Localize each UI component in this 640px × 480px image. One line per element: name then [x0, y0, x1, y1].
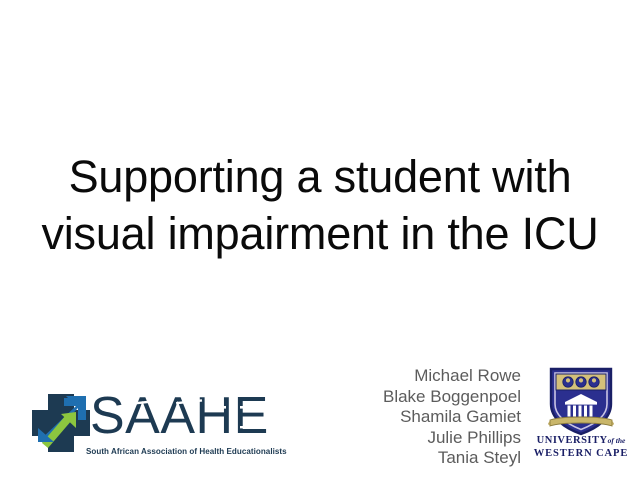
- author-name: Tania Steyl: [300, 448, 521, 469]
- uwc-ofthe-text: of the: [608, 436, 626, 445]
- saahe-wordmark: SAAHE: [90, 388, 280, 444]
- uwc-line-2: WESTERN CAPE: [529, 447, 633, 460]
- author-name: Shamila Gamiet: [300, 407, 521, 428]
- saahe-logo: SAAHE South African Association of Healt…: [28, 388, 278, 468]
- svg-text:SAAHE: SAAHE: [90, 388, 269, 444]
- author-name: Michael Rowe: [300, 366, 521, 387]
- saahe-tagline: South African Association of Health Educ…: [86, 446, 274, 456]
- title-line-2: visual impairment in the ICU: [20, 205, 620, 262]
- title-line-1: Supporting a student with: [20, 148, 620, 205]
- author-list: Michael Rowe Blake Boggenpoel Shamila Ga…: [300, 366, 521, 469]
- uwc-shield-icon: [548, 366, 614, 436]
- presentation-slide: Supporting a student with visual impairm…: [0, 0, 640, 480]
- uwc-wordmark: UNIVERSITYof the WESTERN CAPE: [529, 434, 633, 460]
- saahe-cross-arrows-icon: [28, 390, 94, 454]
- author-name: Blake Boggenpoel: [300, 387, 521, 408]
- uwc-line-1: UNIVERSITYof the: [529, 434, 633, 447]
- uwc-logo: UNIVERSITYof the WESTERN CAPE: [529, 366, 633, 468]
- author-name: Julie Phillips: [300, 428, 521, 449]
- uwc-university-text: UNIVERSITY: [537, 435, 608, 446]
- slide-title: Supporting a student with visual impairm…: [20, 148, 620, 262]
